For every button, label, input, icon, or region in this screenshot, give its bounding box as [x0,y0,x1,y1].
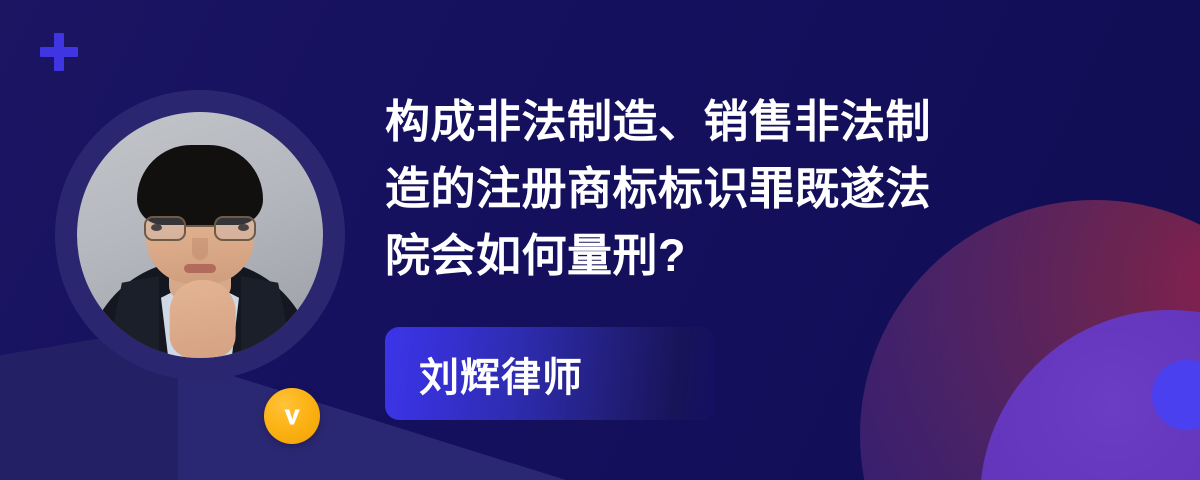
verified-v-icon [264,388,320,444]
plus-decoration-icon [40,33,78,71]
lawyer-name-button[interactable]: 刘辉律师 [385,327,715,420]
blue-dot-shape [1152,360,1200,430]
glasses-bridge [186,225,214,227]
content-block: 构成非法制造、销售非法制 造的注册商标标识罪既遂法 院会如何量刑? 刘辉律师 [385,0,1145,480]
legal-qa-banner: 构成非法制造、销售非法制 造的注册商标标识罪既遂法 院会如何量刑? 刘辉律师 [0,0,1200,480]
avatar [55,90,345,380]
glasses-lens-right [214,216,256,241]
portrait-nose [192,238,208,260]
glasses-lens-left [144,216,186,241]
portrait-mouth [184,264,216,273]
avatar-photo [77,112,323,358]
portrait-hair [137,145,263,225]
portrait-hand [170,280,236,358]
page-title: 构成非法制造、销售非法制 造的注册商标标识罪既遂法 院会如何量刑? [385,88,1025,289]
